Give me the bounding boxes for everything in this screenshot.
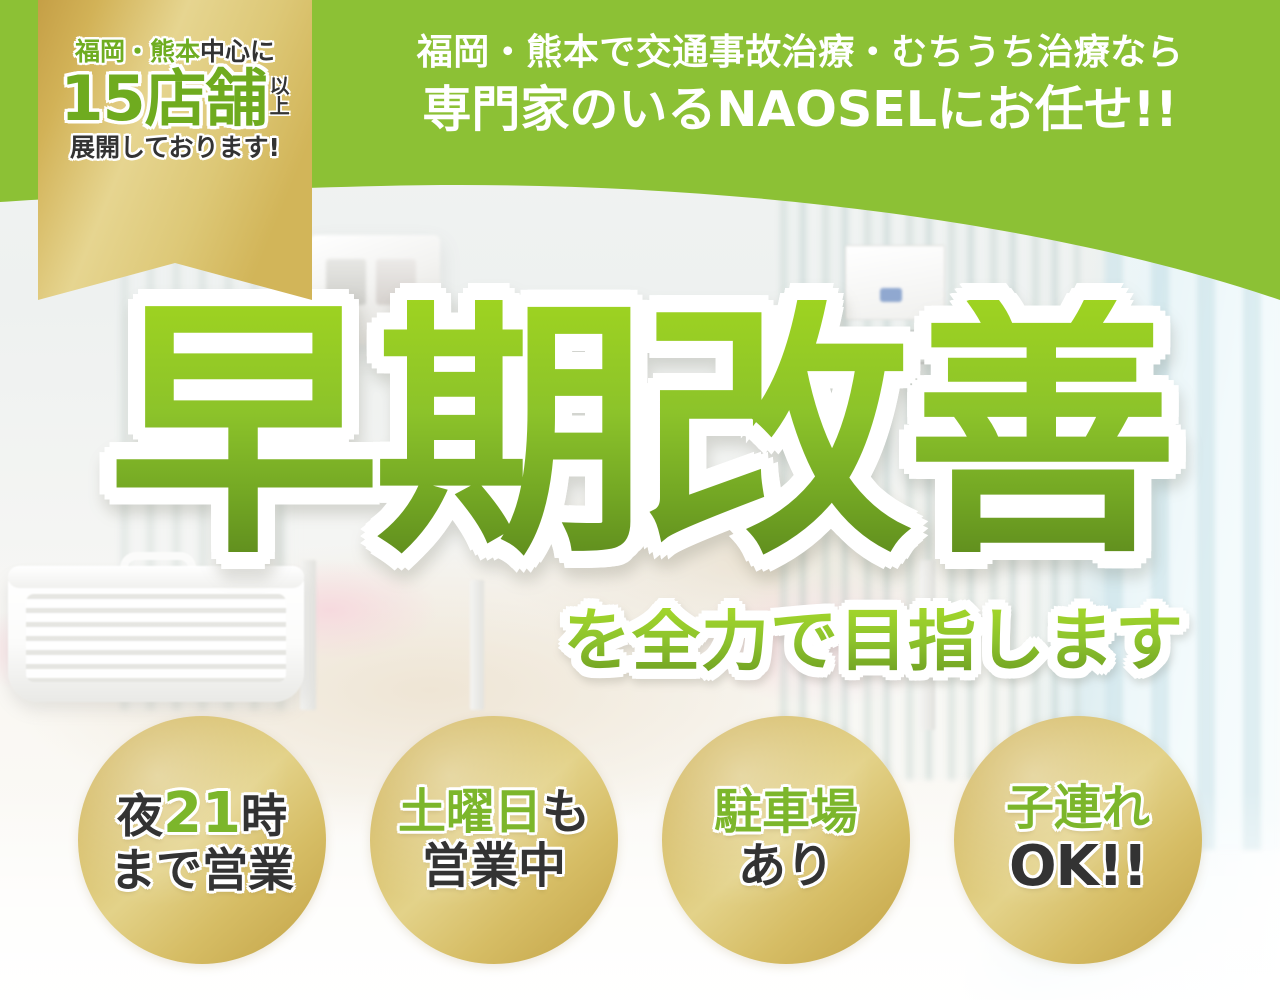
store-count-ribbon: 福岡・熊本中心に 15店舗 以 上 展開しております!	[38, 0, 312, 302]
badge-kids-line1: 子連れ	[1006, 783, 1150, 835]
badge-late-hours-post: 時	[241, 789, 287, 843]
feature-badges: 夜21時 まで営業 土曜日も 営業中 駐車場 あり 子連れ OK!!	[0, 716, 1280, 966]
badge-kids-welcome[interactable]: 子連れ OK!!	[954, 716, 1202, 964]
basket-slats	[26, 594, 286, 682]
badge-parking-line2: あり	[738, 841, 834, 893]
badge-saturday-open[interactable]: 土曜日も 営業中	[370, 716, 618, 964]
background-chart-lines	[858, 330, 930, 364]
badge-parking[interactable]: 駐車場 あり	[662, 716, 910, 964]
background-bed-leg-mid	[470, 580, 484, 710]
basket-rim	[8, 566, 304, 588]
badge-saturday-dark: も	[542, 784, 590, 840]
badge-late-hours-pre: 夜	[117, 789, 163, 843]
badge-late-hours-line2: まで営業	[110, 846, 294, 896]
badge-saturday-line2: 営業中	[422, 841, 566, 893]
badge-kids-line2: OK!!	[1009, 837, 1147, 897]
badge-late-hours-number: 21	[163, 781, 241, 846]
background-bed-leg-right	[920, 560, 935, 730]
badge-late-hours-line1: 夜21時	[117, 784, 287, 844]
background-laundry-basket	[8, 552, 304, 702]
badge-saturday-line1: 土曜日も	[398, 787, 590, 839]
badge-parking-line1: 駐車場	[714, 787, 858, 839]
badge-saturday-green: 土曜日	[398, 784, 542, 840]
hero-banner: 福岡・熊本で交通事故治療・むちうち治療なら 専門家のいるNAOSELにお任せ!!…	[0, 0, 1280, 1000]
badge-late-hours[interactable]: 夜21時 まで営業	[78, 716, 326, 964]
